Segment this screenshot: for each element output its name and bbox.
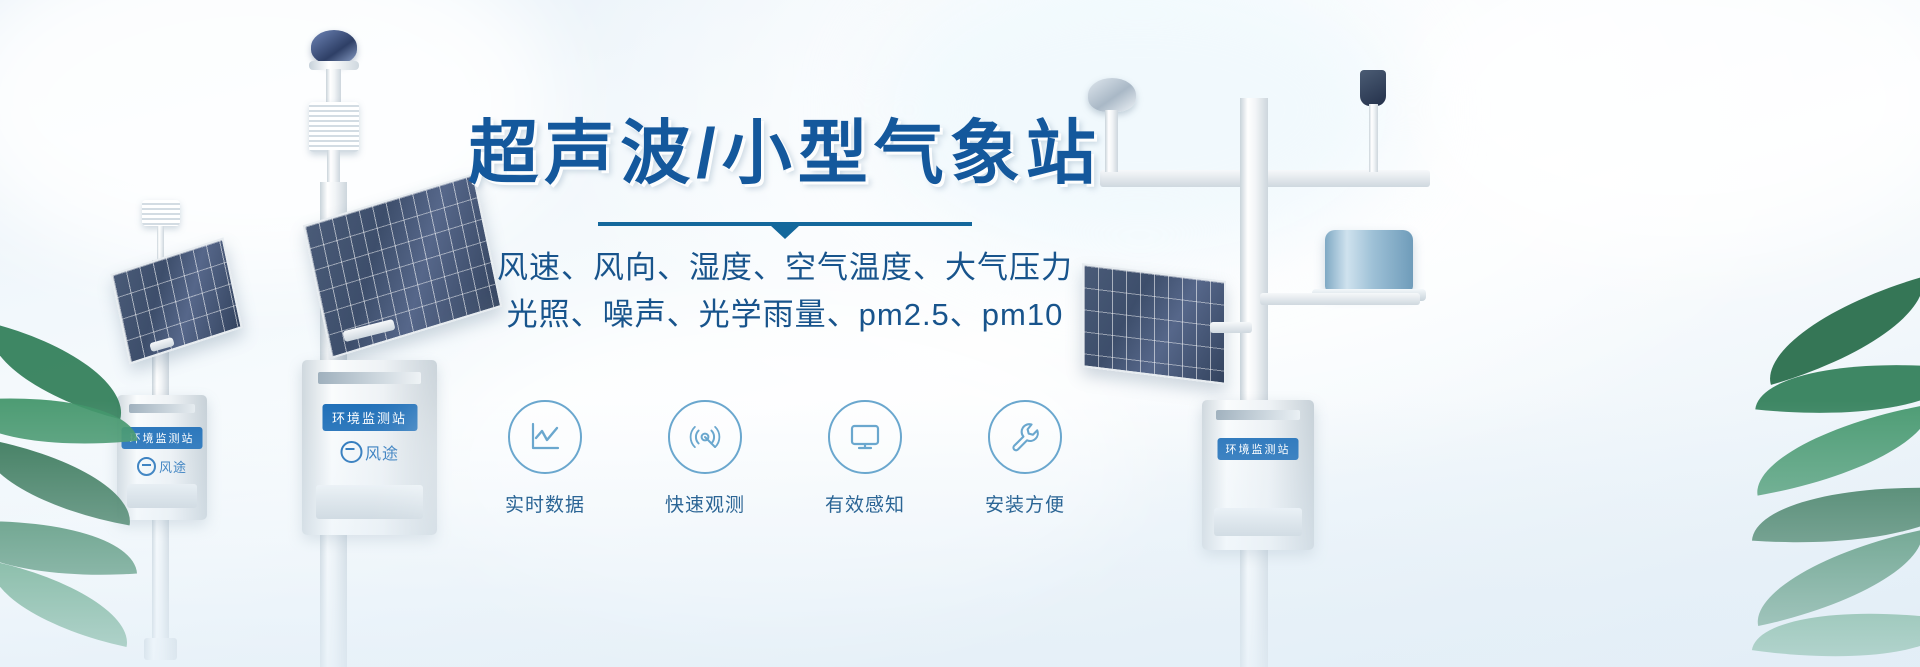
- banner-copy-block: 超声波/小型气象站 风速、风向、湿度、空气温度、大气压力 光照、噪声、光学雨量、…: [440, 118, 1130, 478]
- radar-signal-icon: [686, 418, 724, 456]
- feature-item-easy-install[interactable]: 安装方便: [965, 400, 1085, 517]
- feature-icon-ring: [668, 400, 742, 474]
- subtitle-line-1: 风速、风向、湿度、空气温度、大气压力: [440, 246, 1130, 291]
- feature-list: 实时数据 快速观测: [440, 400, 1130, 517]
- feature-label: 快速观测: [665, 490, 745, 517]
- feature-label: 安装方便: [985, 490, 1065, 517]
- feature-icon-ring: [988, 400, 1062, 474]
- wrench-icon: [1006, 418, 1044, 456]
- monitor-icon: [846, 418, 884, 456]
- feature-item-effective-sensing[interactable]: 有效感知: [805, 400, 925, 517]
- subtitle-line-2: 光照、噪声、光学雨量、pm2.5、pm10: [440, 293, 1130, 338]
- title-divider: [598, 222, 972, 226]
- feature-label: 有效感知: [825, 490, 905, 517]
- feature-item-fast-observation[interactable]: 快速观测: [645, 400, 765, 517]
- product-banner: 环境监测站 风途 环境监测站 风途: [0, 0, 1920, 667]
- feature-icon-ring: [508, 400, 582, 474]
- feature-item-realtime-data[interactable]: 实时数据: [485, 400, 605, 517]
- feature-label: 实时数据: [505, 490, 585, 517]
- feature-icon-ring: [828, 400, 902, 474]
- page-title: 超声波/小型气象站: [440, 118, 1130, 188]
- line-chart-icon: [526, 418, 564, 456]
